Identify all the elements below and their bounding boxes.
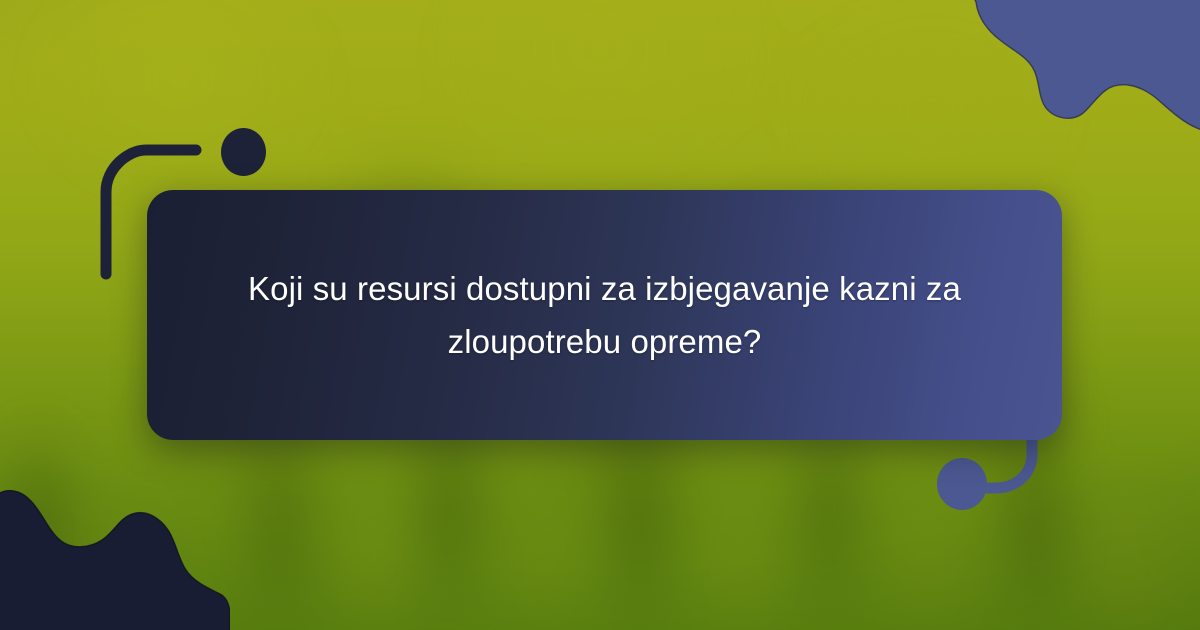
question-card: Koji su resursi dostupni za izbjegavanje…	[147, 190, 1062, 440]
top-left-dot-icon	[221, 128, 266, 176]
question-text: Koji su resursi dostupni za izbjegavanje…	[210, 262, 1000, 369]
quote-card-canvas: Koji su resursi dostupni za izbjegavanje…	[0, 0, 1200, 630]
bottom-right-dot-icon	[937, 458, 987, 510]
